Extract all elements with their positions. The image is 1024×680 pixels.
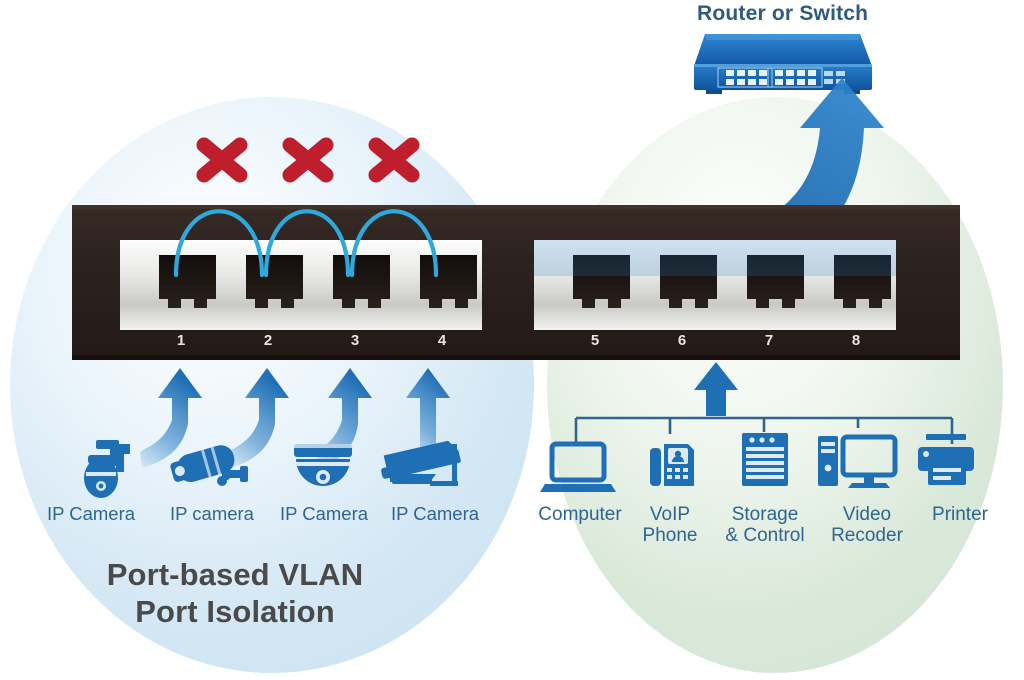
right-vlan-group-ellipse bbox=[547, 97, 1003, 673]
device-label-printer-line1: Printer bbox=[914, 504, 1006, 525]
camera-label-1: IP Camera bbox=[36, 503, 146, 525]
port-number-3: 3 bbox=[340, 332, 370, 349]
camera-label-4: IP Camera bbox=[380, 503, 490, 525]
device-label-voip-phone-line2: Phone bbox=[622, 525, 718, 546]
diagram-canvas: 1 2 3 4 5 6 7 8 Router or Switch IP Came… bbox=[0, 0, 1024, 680]
device-label-voip-phone-line1: VoIP bbox=[622, 504, 718, 525]
router-or-switch-title: Router or Switch bbox=[697, 2, 868, 26]
device-label-video-recorder-line2: Recoder bbox=[812, 525, 922, 546]
vlan-title-line2: Port Isolation bbox=[72, 594, 398, 631]
device-label-storage-line2: & Control bbox=[706, 525, 824, 546]
vlan-title-line1: Port-based VLAN bbox=[72, 557, 398, 594]
device-label-video-recorder-line1: Video bbox=[812, 504, 922, 525]
camera-label-3: IP Camera bbox=[269, 503, 379, 525]
device-label-voip-phone: VoIP Phone bbox=[622, 504, 718, 547]
device-label-computer: Computer bbox=[524, 504, 636, 525]
port-number-5: 5 bbox=[580, 332, 610, 349]
port-bezel-left bbox=[120, 240, 482, 330]
device-label-computer-line1: Computer bbox=[524, 504, 636, 525]
device-label-storage-line1: Storage bbox=[706, 504, 824, 525]
device-label-printer: Printer bbox=[914, 504, 1006, 525]
port-number-8: 8 bbox=[841, 332, 871, 349]
device-label-video-recorder: Video Recoder bbox=[812, 504, 922, 547]
server-storage-icon bbox=[742, 433, 788, 486]
port-number-6: 6 bbox=[667, 332, 697, 349]
port-number-2: 2 bbox=[253, 332, 283, 349]
voip-phone-icon bbox=[650, 444, 694, 486]
vlan-title: Port-based VLAN Port Isolation bbox=[72, 557, 398, 630]
device-label-storage: Storage & Control bbox=[706, 504, 824, 547]
port-number-7: 7 bbox=[754, 332, 784, 349]
port-number-1: 1 bbox=[166, 332, 196, 349]
port-number-4: 4 bbox=[427, 332, 457, 349]
camera-label-2: IP camera bbox=[157, 503, 267, 525]
port-bezel-right bbox=[534, 240, 896, 330]
